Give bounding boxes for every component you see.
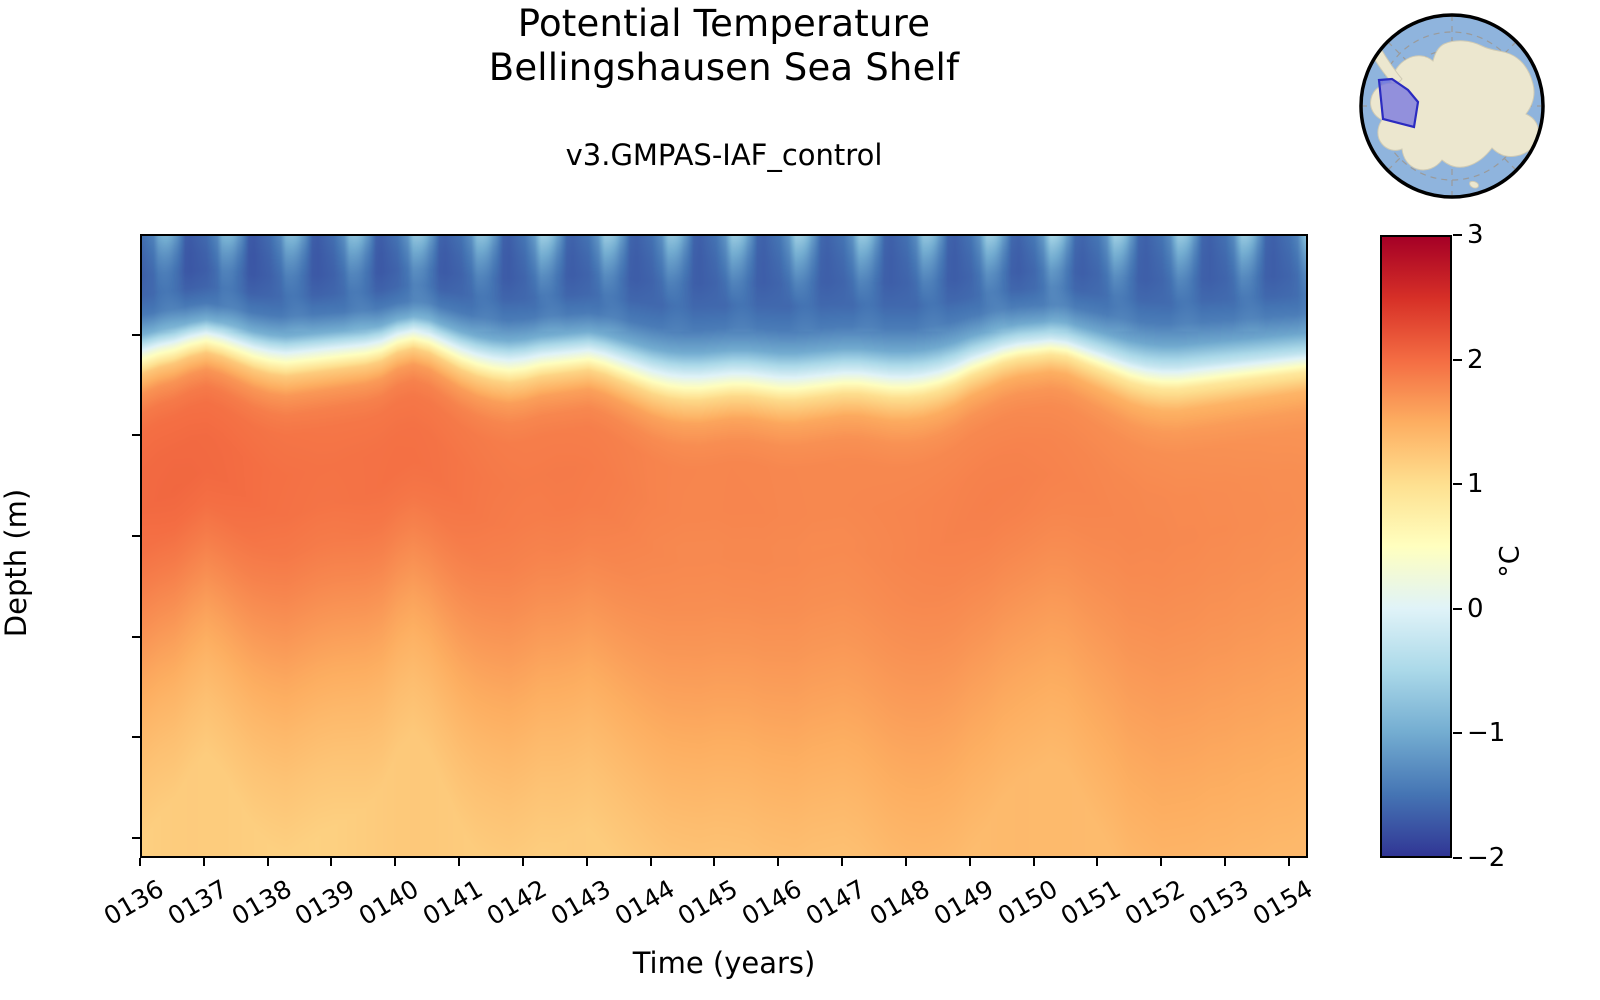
title-line-1: Potential Temperature xyxy=(140,2,1308,46)
x-tick-mark xyxy=(586,858,588,866)
x-tick-mark xyxy=(1288,858,1290,866)
x-tick-mark xyxy=(1224,858,1226,866)
colorbar-tick-label: 3 xyxy=(1467,220,1484,250)
page-title: Potential Temperature Bellingshausen Sea… xyxy=(140,2,1308,90)
y-tick-mark xyxy=(132,434,140,436)
temperature-heatmap xyxy=(142,236,1306,856)
colorbar-label: °C xyxy=(1495,452,1526,672)
x-tick-mark xyxy=(1160,858,1162,866)
x-tick-label: 0154 xyxy=(1248,874,1318,931)
x-tick-mark xyxy=(777,858,779,866)
colorbar-tick-mark xyxy=(1453,732,1462,734)
y-tick-mark xyxy=(132,535,140,537)
x-tick-mark xyxy=(394,858,396,866)
colorbar-tick-label: 1 xyxy=(1467,469,1484,499)
colorbar-tick-mark xyxy=(1453,857,1462,859)
x-tick-mark xyxy=(841,858,843,866)
x-tick-label: 0145 xyxy=(673,874,743,931)
x-tick-label: 0150 xyxy=(992,874,1062,931)
x-tick-label: 0144 xyxy=(609,874,679,931)
y-tick-mark xyxy=(132,837,140,839)
x-tick-label: 0147 xyxy=(801,874,871,931)
x-tick-label: 0137 xyxy=(163,874,233,931)
x-tick-mark xyxy=(203,858,205,866)
x-tick-mark xyxy=(330,858,332,866)
x-tick-mark xyxy=(650,858,652,866)
x-axis-label: Time (years) xyxy=(140,946,1308,980)
colorbar-tick-mark xyxy=(1453,359,1462,361)
colorbar-tick-mark xyxy=(1453,608,1462,610)
x-tick-label: 0143 xyxy=(546,874,616,931)
title-line-2: Bellingshausen Sea Shelf xyxy=(140,46,1308,90)
colorbar-tick-mark xyxy=(1453,234,1462,236)
colorbar-tick-mark xyxy=(1453,483,1462,485)
x-tick-label: 0152 xyxy=(1120,874,1190,931)
colorbar-tick-label: −2 xyxy=(1467,843,1505,873)
small-island-left xyxy=(1363,61,1369,67)
y-tick-mark xyxy=(132,736,140,738)
colorbar-tick-label: 0 xyxy=(1467,594,1484,624)
x-tick-mark xyxy=(139,858,141,866)
x-tick-label: 0139 xyxy=(290,874,360,931)
x-tick-label: 0136 xyxy=(99,874,169,931)
y-axis-label: Depth (m) xyxy=(0,333,33,793)
x-tick-label: 0138 xyxy=(227,874,297,931)
colorbar xyxy=(1380,235,1452,858)
x-tick-label: 0153 xyxy=(1184,874,1254,931)
colorbar-tick-label: −1 xyxy=(1467,718,1505,748)
y-tick-mark xyxy=(132,334,140,336)
x-tick-label: 0146 xyxy=(737,874,807,931)
x-tick-label: 0141 xyxy=(418,874,488,931)
x-tick-label: 0151 xyxy=(1056,874,1126,931)
x-tick-label: 0140 xyxy=(354,874,424,931)
antarctica-locator-map xyxy=(1352,6,1552,206)
x-tick-label: 0148 xyxy=(865,874,935,931)
x-tick-label: 0149 xyxy=(929,874,999,931)
x-tick-mark xyxy=(458,858,460,866)
y-tick-mark xyxy=(132,636,140,638)
x-tick-mark xyxy=(267,858,269,866)
locator-map-svg xyxy=(1352,6,1552,206)
x-tick-mark xyxy=(1033,858,1035,866)
x-tick-mark xyxy=(522,858,524,866)
colorbar-gradient xyxy=(1382,237,1450,856)
x-tick-label: 0142 xyxy=(482,874,552,931)
figure-canvas: Potential Temperature Bellingshausen Sea… xyxy=(0,0,1600,1000)
subtitle: v3.GMPAS-IAF_control xyxy=(140,138,1308,172)
x-tick-mark xyxy=(969,858,971,866)
colorbar-tick-label: 2 xyxy=(1467,345,1484,375)
heatmap-axes xyxy=(140,234,1308,858)
x-tick-mark xyxy=(713,858,715,866)
x-tick-mark xyxy=(1096,858,1098,866)
x-tick-mark xyxy=(905,858,907,866)
